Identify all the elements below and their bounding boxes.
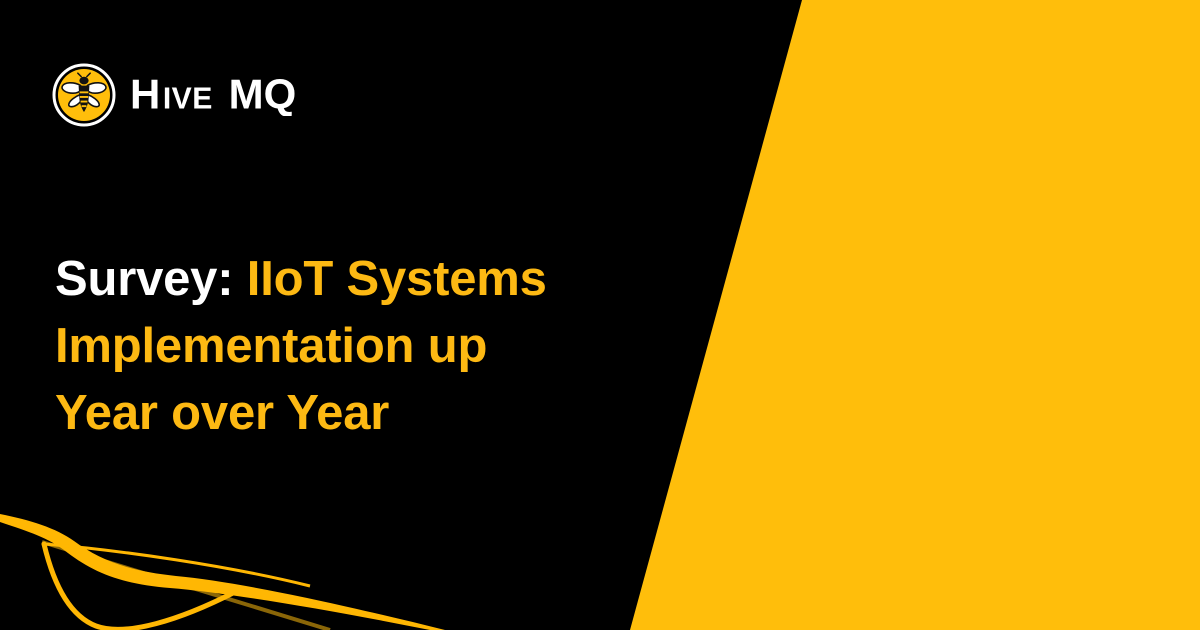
headline-line-2: Implementation up xyxy=(55,313,675,380)
hivemq-logo-lockup[interactable]: H IVE MQ xyxy=(52,63,342,127)
headline-lead: Survey: xyxy=(55,252,233,306)
headline-line-1: Survey: IIoT Systems xyxy=(55,246,675,313)
headline: Survey: IIoT Systems Implementation up Y… xyxy=(55,246,675,447)
wordmark-small-caps-ive: IVE xyxy=(163,83,213,116)
headline-line-3: Year over Year xyxy=(55,380,675,447)
hivemq-bee-logo-icon xyxy=(52,63,116,127)
headline-accent-1: IIoT Systems xyxy=(247,252,547,306)
yellow-panel-shape xyxy=(630,0,1200,630)
swoosh-lower-wing xyxy=(44,544,235,629)
swoosh-shadow-line xyxy=(42,542,330,630)
swoosh-upper-wing xyxy=(0,514,445,630)
headline-space xyxy=(233,252,246,306)
hivemq-wordmark: H IVE MQ xyxy=(130,74,342,116)
social-share-card: H IVE MQ Survey: IIoT Systems Implementa… xyxy=(0,0,1200,630)
swoosh-trailing-line xyxy=(44,544,310,586)
wordmark-cap-h: H xyxy=(130,74,160,116)
bee-wing-swoosh xyxy=(0,500,700,630)
wordmark-cap-mq: MQ xyxy=(229,74,297,116)
